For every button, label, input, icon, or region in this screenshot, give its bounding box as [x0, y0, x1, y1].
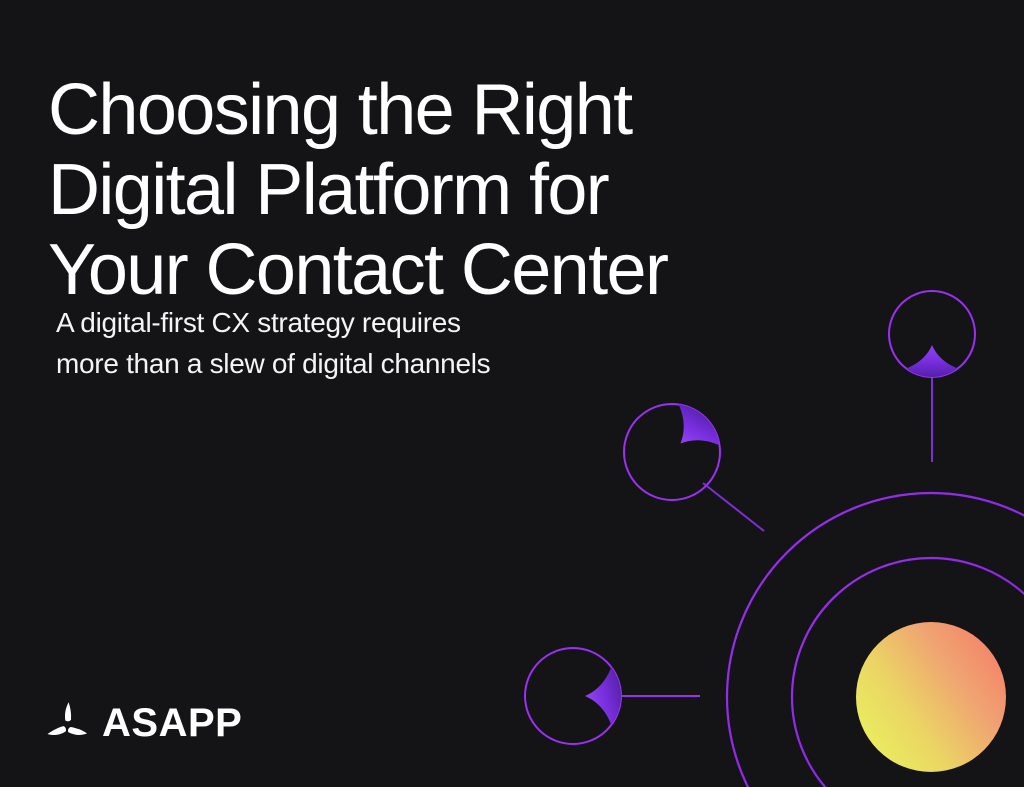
subtitle-line-2: more than a slew of digital channels: [56, 343, 676, 384]
asapp-triskelion-mark: [46, 700, 90, 746]
headline-line-2: Digital Platform for: [48, 150, 808, 230]
page-title: Choosing the Right Digital Platform for …: [48, 70, 808, 310]
headline-line-1: Choosing the Right: [48, 70, 808, 150]
asapp-wordmark: ASAPP: [102, 703, 242, 743]
headline-line-3: Your Contact Center: [48, 230, 808, 310]
subtitle-line-1: A digital-first CX strategy requires: [56, 302, 676, 343]
page-subtitle: A digital-first CX strategy requires mor…: [56, 302, 676, 384]
cover-slide: Choosing the Right Digital Platform for …: [0, 0, 1024, 787]
asapp-logo[interactable]: ASAPP: [46, 700, 242, 746]
